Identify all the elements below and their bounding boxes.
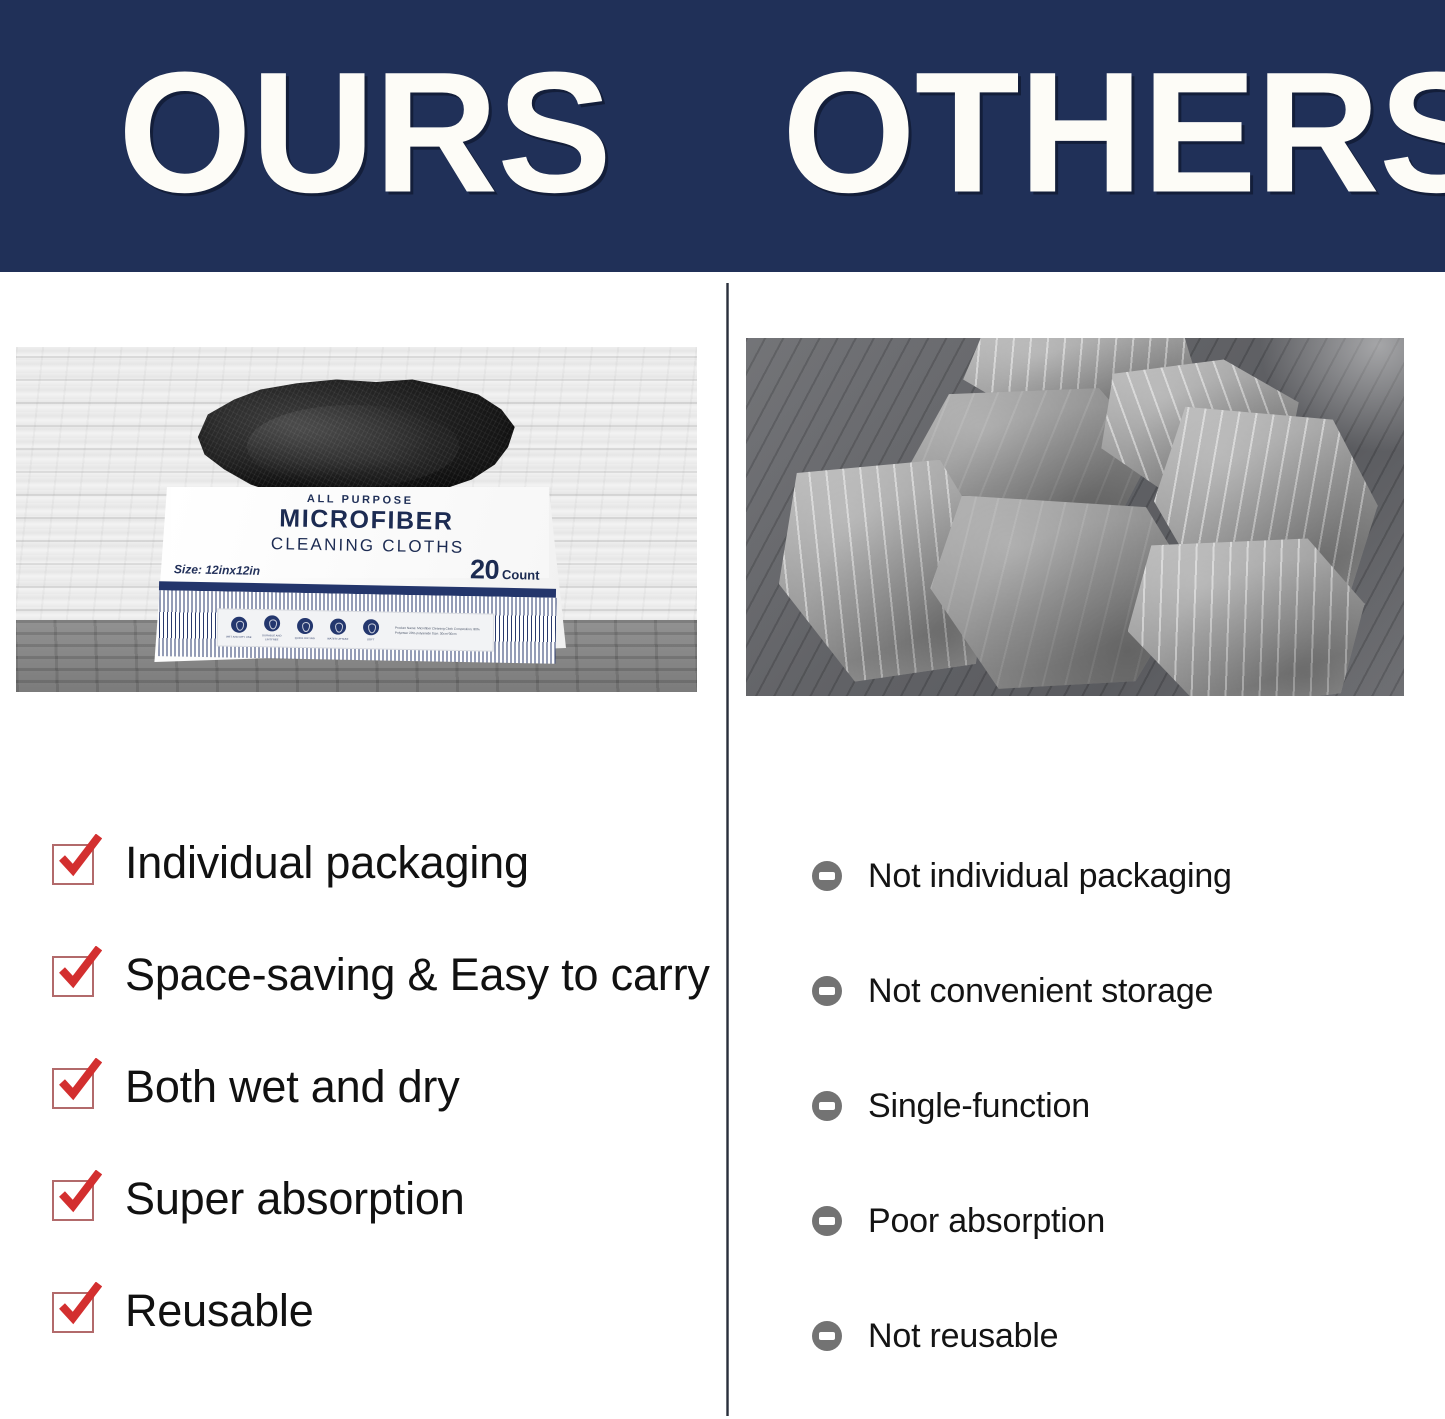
check-icon [52,1063,98,1109]
package-feature-3: QUICK DRYING [290,618,320,641]
list-item: Both wet and dry [52,1030,702,1142]
others-product-photo [746,338,1404,696]
column-divider [726,283,729,1416]
check-mark [56,1282,102,1328]
list-item-label: Super absorption [125,1176,465,1221]
check-icon [52,839,98,885]
package-feature-5: SOFT [356,619,386,642]
list-item: Not reusable [812,1278,1372,1393]
ours-product-photo: ALL PURPOSE MICROFIBER CLEANING CLOTHS S… [16,347,697,692]
check-icon [52,1175,98,1221]
minus-bar [819,1332,835,1340]
minus-icon [812,1091,842,1121]
header-banner: OURS OTHERS [0,0,1445,272]
list-item-label: Reusable [125,1288,314,1333]
list-item-label: Not individual packaging [868,859,1232,893]
check-icon [52,951,98,997]
list-item-label: Individual packaging [125,840,529,885]
package-feature-5-label: SOFT [356,638,386,642]
list-item-label: Space-saving & Easy to carry [125,952,710,997]
list-item: Not convenient storage [812,933,1372,1048]
package-feature-2: DURABLE AND LINTFREE [257,615,287,641]
droplet-icon [231,616,247,632]
header-title-ours: OURS [118,47,611,219]
cloth-icon [363,619,379,635]
package-count: 20Count [470,554,540,586]
minus-bar [819,1217,835,1225]
minus-bar [819,987,835,995]
list-item-label: Both wet and dry [125,1064,460,1109]
check-mark [56,1058,102,1104]
package-spec-text: Product Name: Microfiber Cleaning Cloth … [395,626,493,638]
package-count-number: 20 [470,554,500,585]
package-feature-2-label: DURABLE AND LINTFREE [257,634,287,641]
list-item: Not individual packaging [812,818,1372,933]
package-feature-4-label: WATER UPTAKE [323,637,353,641]
minus-bar [819,872,835,880]
package-feature-4: WATER UPTAKE [323,618,353,641]
package-line-cleaning-cloths: CLEANING CLOTHS [271,534,465,558]
others-feature-list: Not individual packaging Not convenient … [812,818,1372,1393]
list-item-label: Not convenient storage [868,974,1213,1008]
package-line-microfiber: MICROFIBER [279,504,454,536]
minus-icon [812,1206,842,1236]
list-item: Super absorption [52,1142,702,1254]
minus-icon [812,861,842,891]
package-info-panel: WET AND DRY USE DURABLE AND LINTFREE QUI… [217,608,495,651]
list-item-label: Single-function [868,1089,1090,1123]
list-item: Single-function [812,1048,1372,1163]
list-item-label: Not reusable [868,1319,1058,1353]
package-size-text: Size: 12inx12in [174,562,260,578]
water-drop-icon [330,618,346,634]
comparison-infographic: OURS OTHERS ALL PURPOSE MICROFIBER CLEAN… [0,0,1445,1419]
minus-icon [812,976,842,1006]
check-mark [56,946,102,992]
microfiber-package-box: ALL PURPOSE MICROFIBER CLEANING CLOTHS S… [146,487,566,662]
check-icon [52,1287,98,1333]
list-item: Space-saving & Easy to carry [52,918,702,1030]
package-feature-1-label: WET AND DRY USE [224,635,254,639]
heart-icon [264,616,280,632]
ours-feature-list: Individual packaging Space-saving & Easy… [52,806,702,1366]
check-mark [56,1170,102,1216]
list-item: Individual packaging [52,806,702,918]
list-item: Reusable [52,1254,702,1366]
minus-bar [819,1102,835,1110]
package-feature-1: WET AND DRY USE [224,616,254,639]
package-count-unit: Count [502,567,540,583]
package-feature-3-label: QUICK DRYING [290,637,320,641]
list-item: Poor absorption [812,1163,1372,1278]
minus-icon [812,1321,842,1351]
check-mark [56,834,102,880]
list-item-label: Poor absorption [868,1204,1105,1238]
clock-icon [297,618,313,634]
header-title-others: OTHERS [782,47,1445,219]
